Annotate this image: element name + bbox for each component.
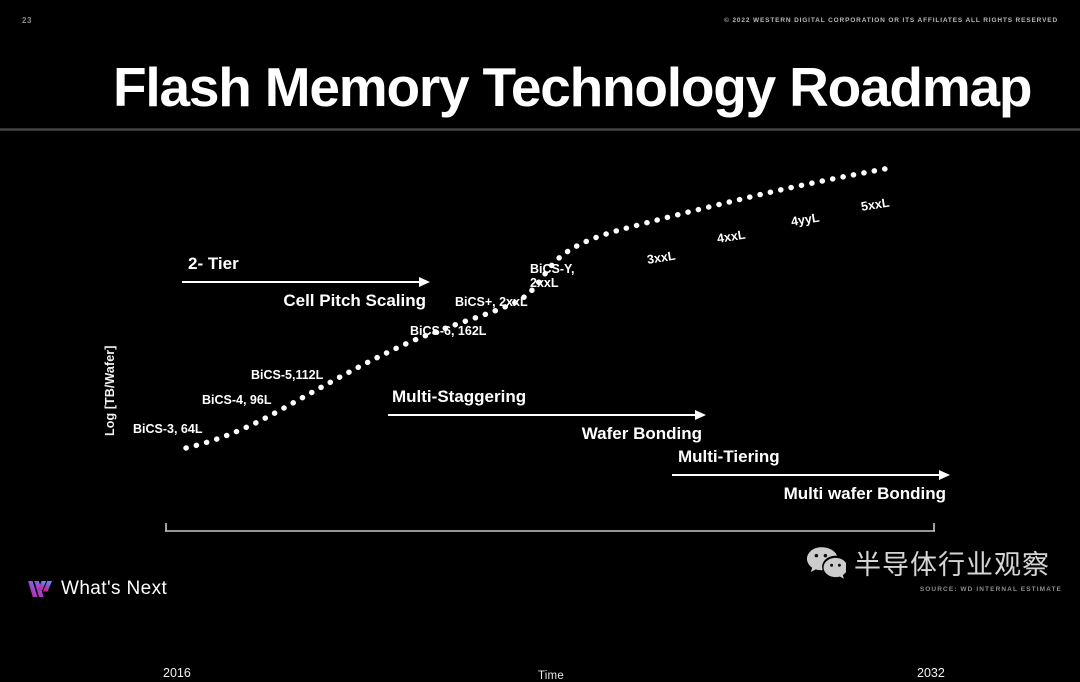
page-title: Flash Memory Technology Roadmap — [113, 54, 1031, 120]
node-label-bicsplus: BiCS+, 2xxL — [455, 295, 528, 309]
annotation-wafer-bonding: Multi-Staggering Wafer Bonding — [388, 388, 706, 442]
arrow-shaft — [672, 474, 939, 476]
page-number: 23 — [22, 16, 32, 25]
annotation-arrow-3 — [672, 470, 950, 480]
annotation-wafer-bonding-bottom: Wafer Bonding — [388, 425, 706, 442]
node-label-bicsy: BiCS-Y, 2xxL — [530, 262, 574, 290]
annotation-cell-pitch-bottom: Cell Pitch Scaling — [182, 292, 430, 309]
annotation-arrow-1 — [182, 277, 430, 287]
node-label-bics3: BiCS-3, 64L — [133, 422, 202, 436]
annotation-cell-pitch-scaling: 2- Tier Cell Pitch Scaling — [182, 255, 430, 309]
source-note: SOURCE: WD INTERNAL ESTIMATE — [920, 586, 1062, 593]
roadmap-chart: Log [TB/Wafer] BiCS-3, 64L BiCS-4, 96L B… — [0, 131, 1080, 613]
x-axis-label: Time — [538, 670, 564, 682]
annotation-arrow-2 — [388, 410, 706, 420]
annotation-wafer-bonding-top: Multi-Staggering — [388, 388, 706, 405]
title-zone: Flash Memory Technology Roadmap — [0, 44, 1080, 130]
arrow-shaft — [182, 281, 419, 283]
annotation-multi-tiering-top: Multi-Tiering — [672, 448, 950, 465]
node-label-bics4: BiCS-4, 96L — [202, 393, 271, 407]
annotation-multi-tiering: Multi-Tiering Multi wafer Bonding — [672, 448, 950, 502]
brand-text: What's Next — [61, 578, 167, 600]
western-digital-logo-icon — [28, 579, 52, 599]
watermark-text: 半导体行业观察 — [854, 543, 1050, 582]
arrow-shaft — [388, 414, 695, 416]
slide-header: 23 © 2022 WESTERN DIGITAL CORPORATION OR… — [0, 0, 1080, 44]
arrow-head — [695, 410, 706, 420]
node-label-bics5: BiCS-5,112L — [251, 368, 323, 382]
wechat-watermark: 半导体行业观察 — [806, 543, 1050, 582]
footer-brand: What's Next — [28, 578, 167, 600]
arrow-head — [939, 470, 950, 480]
wechat-icon — [806, 546, 846, 580]
arrow-head — [419, 277, 430, 287]
annotation-multi-tiering-bottom: Multi wafer Bonding — [672, 485, 950, 502]
node-label-bics6: BiCS-6, 162L — [410, 324, 486, 338]
x-axis — [165, 523, 935, 531]
chart-canvas — [0, 131, 1080, 613]
slide-root: 23 © 2022 WESTERN DIGITAL CORPORATION OR… — [0, 0, 1080, 613]
x-axis-tick-start: 2016 — [163, 666, 191, 680]
y-axis-label: Log [TB/Wafer] — [103, 345, 117, 436]
x-axis-tick-end: 2032 — [917, 666, 945, 680]
annotation-cell-pitch-top: 2- Tier — [182, 255, 430, 272]
copyright-notice: © 2022 WESTERN DIGITAL CORPORATION OR IT… — [724, 17, 1058, 24]
